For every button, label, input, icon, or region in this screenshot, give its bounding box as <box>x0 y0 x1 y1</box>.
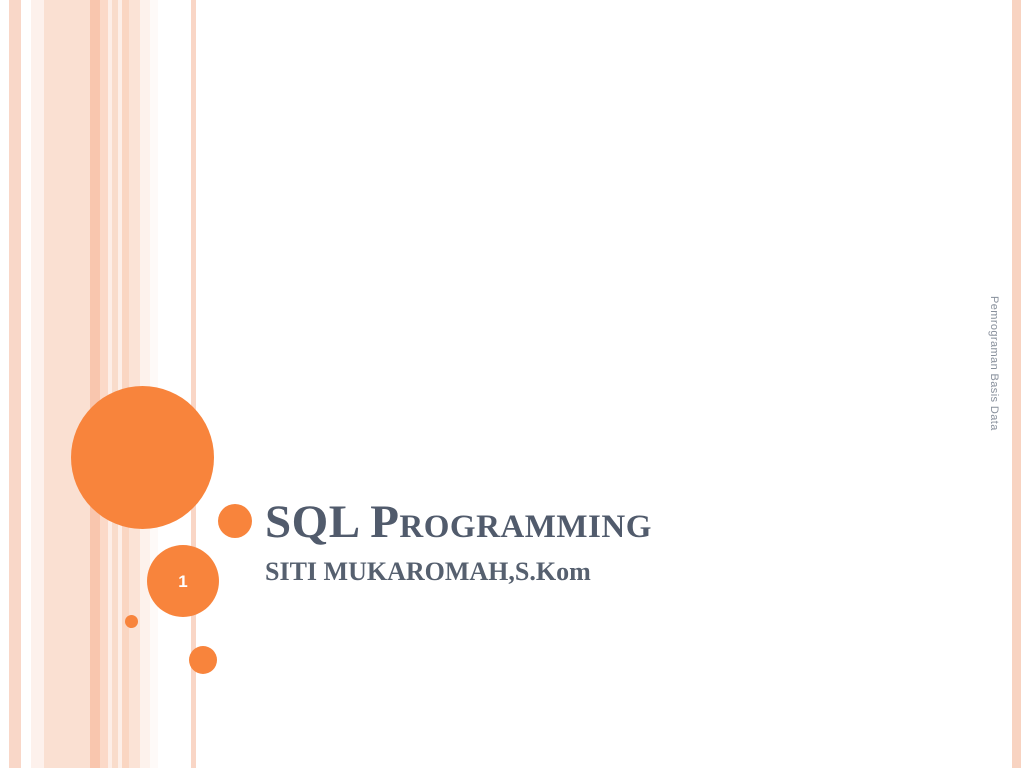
orange-circle-small-icon <box>189 646 217 674</box>
left-stripe-band <box>0 0 200 768</box>
slide-number-text: 1 <box>178 573 187 590</box>
page-title: SQL Programming <box>265 498 965 548</box>
page-subtitle: SITI MUKAROMAH,S.Kom <box>265 558 965 587</box>
orange-circle-mid-icon <box>218 504 252 538</box>
title-block: SQL Programming SITI MUKAROMAH,S.Kom <box>265 498 965 586</box>
orange-circle-dot-icon <box>125 615 138 628</box>
slide-canvas: 1 SQL Programming SITI MUKAROMAH,S.Kom P… <box>0 0 1024 768</box>
orange-circle-large-icon <box>71 386 214 529</box>
side-label: Pemrograman Basis Data <box>986 296 1002 496</box>
slide-number-badge: 1 <box>147 545 219 617</box>
right-stripe-band <box>1010 0 1024 768</box>
side-label-text: Pemrograman Basis Data <box>986 296 1002 431</box>
